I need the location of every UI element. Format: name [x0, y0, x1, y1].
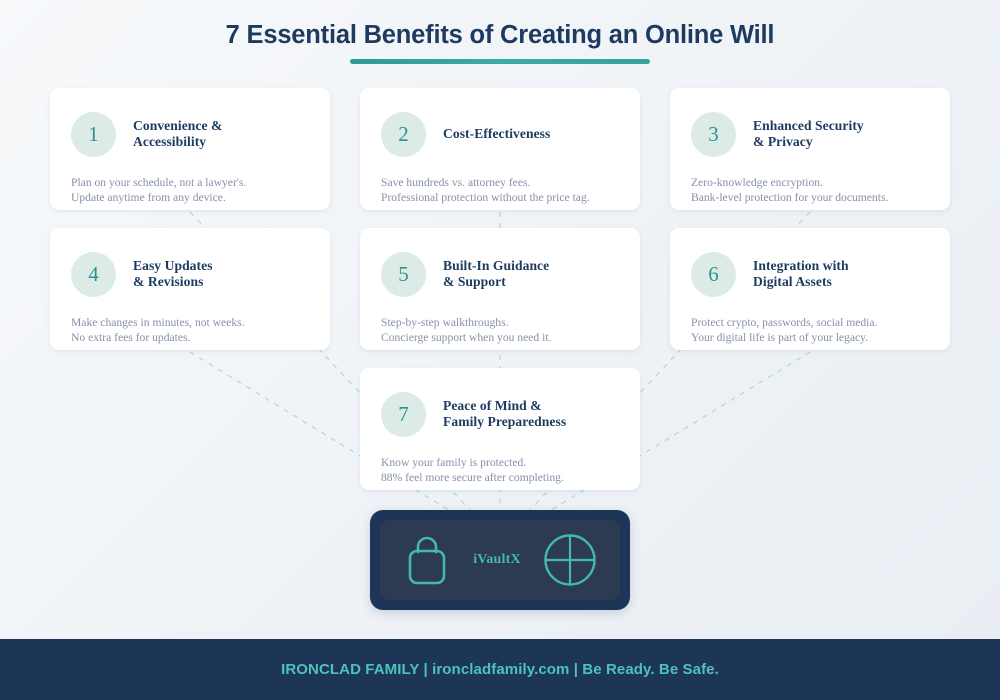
card-number-badge: 6: [691, 252, 736, 297]
card-number-badge: 7: [381, 392, 426, 437]
card-body: Protect crypto, passwords, social media.…: [691, 315, 929, 346]
card-title: Built-In Guidance & Support: [443, 258, 549, 291]
card-header: 1 Convenience & Accessibility: [71, 107, 309, 161]
benefit-card-1[interactable]: 1 Convenience & Accessibility Plan on yo…: [50, 88, 330, 210]
card-body-line1: Plan on your schedule, not a lawyer's.: [71, 175, 309, 190]
benefit-card-6[interactable]: 6 Integration with Digital Assets Protec…: [670, 228, 950, 350]
card-body-line2: No extra fees for updates.: [71, 330, 309, 345]
card-body-line2: Professional protection without the pric…: [381, 190, 619, 205]
benefit-card-3[interactable]: 3 Enhanced Security & Privacy Zero-knowl…: [670, 88, 950, 210]
card-header: 4 Easy Updates & Revisions: [71, 247, 309, 301]
card-title-line1: Built-In Guidance: [443, 258, 549, 275]
card-title: Easy Updates & Revisions: [133, 258, 213, 291]
card-number-badge: 5: [381, 252, 426, 297]
card-body-line1: Protect crypto, passwords, social media.: [691, 315, 929, 330]
benefit-card-4[interactable]: 4 Easy Updates & Revisions Make changes …: [50, 228, 330, 350]
card-body: Know your family is protected. 88% feel …: [381, 455, 619, 486]
card-header: 6 Integration with Digital Assets: [691, 247, 929, 301]
card-body: Plan on your schedule, not a lawyer's. U…: [71, 175, 309, 206]
card-number-badge: 1: [71, 112, 116, 157]
brand-logo-inner: iVaultX: [380, 520, 620, 600]
card-body-line2: 88% feel more secure after completing.: [381, 470, 619, 485]
footer-bar: IRONCLAD FAMILY | ironcladfamily.com | B…: [0, 639, 1000, 700]
card-body-line1: Make changes in minutes, not weeks.: [71, 315, 309, 330]
card-body-line1: Zero-knowledge encryption.: [691, 175, 929, 190]
card-body-line2: Bank-level protection for your documents…: [691, 190, 929, 205]
card-header: 7 Peace of Mind & Family Preparedness: [381, 387, 619, 441]
card-body-line2: Your digital life is part of your legacy…: [691, 330, 929, 345]
card-title-line2: & Privacy: [753, 134, 864, 151]
card-title-line1: Enhanced Security: [753, 118, 864, 135]
benefit-card-2[interactable]: 2 Cost-Effectiveness Save hundreds vs. a…: [360, 88, 640, 210]
card-body: Step-by-step walkthroughs. Concierge sup…: [381, 315, 619, 346]
card-title: Convenience & Accessibility: [133, 118, 222, 151]
card-body-line2: Concierge support when you need it.: [381, 330, 619, 345]
card-header: 3 Enhanced Security & Privacy: [691, 107, 929, 161]
card-body-line1: Step-by-step walkthroughs.: [381, 315, 619, 330]
card-title: Enhanced Security & Privacy: [753, 118, 864, 151]
card-title-line1: Easy Updates: [133, 258, 213, 275]
card-title: Cost-Effectiveness: [443, 126, 550, 143]
card-body-line1: Save hundreds vs. attorney fees.: [381, 175, 619, 190]
card-body: Make changes in minutes, not weeks. No e…: [71, 315, 309, 346]
benefit-card-5[interactable]: 5 Built-In Guidance & Support Step-by-st…: [360, 228, 640, 350]
card-title: Peace of Mind & Family Preparedness: [443, 398, 566, 431]
card-body-line2: Update anytime from any device.: [71, 190, 309, 205]
card-number-badge: 4: [71, 252, 116, 297]
brand-logo-box[interactable]: iVaultX: [370, 510, 630, 610]
card-title-line1: Cost-Effectiveness: [443, 126, 550, 143]
card-body: Save hundreds vs. attorney fees. Profess…: [381, 175, 619, 206]
title-underline-accent: [350, 59, 650, 64]
card-body: Zero-knowledge encryption. Bank-level pr…: [691, 175, 929, 206]
page-header: 7 Essential Benefits of Creating an Onli…: [0, 16, 1000, 64]
card-number-badge: 2: [381, 112, 426, 157]
lock-icon: [403, 533, 451, 587]
card-title-line2: Family Preparedness: [443, 414, 566, 431]
card-title-line1: Peace of Mind &: [443, 398, 566, 415]
card-title: Integration with Digital Assets: [753, 258, 849, 291]
card-header: 5 Built-In Guidance & Support: [381, 247, 619, 301]
card-title-line2: Accessibility: [133, 134, 222, 151]
footer-text: IRONCLAD FAMILY | ironcladfamily.com | B…: [281, 661, 719, 678]
card-title-line2: Digital Assets: [753, 274, 849, 291]
card-title-line1: Convenience &: [133, 118, 222, 135]
card-title-line1: Integration with: [753, 258, 849, 275]
benefit-card-7[interactable]: 7 Peace of Mind & Family Preparedness Kn…: [360, 368, 640, 490]
circle-plus-icon: [543, 533, 597, 587]
brand-name: iVaultX: [473, 552, 521, 568]
page-title: 7 Essential Benefits of Creating an Onli…: [0, 16, 1000, 54]
card-number-badge: 3: [691, 112, 736, 157]
card-header: 2 Cost-Effectiveness: [381, 107, 619, 161]
card-title-line2: & Revisions: [133, 274, 213, 291]
card-title-line2: & Support: [443, 274, 549, 291]
card-body-line1: Know your family is protected.: [381, 455, 619, 470]
